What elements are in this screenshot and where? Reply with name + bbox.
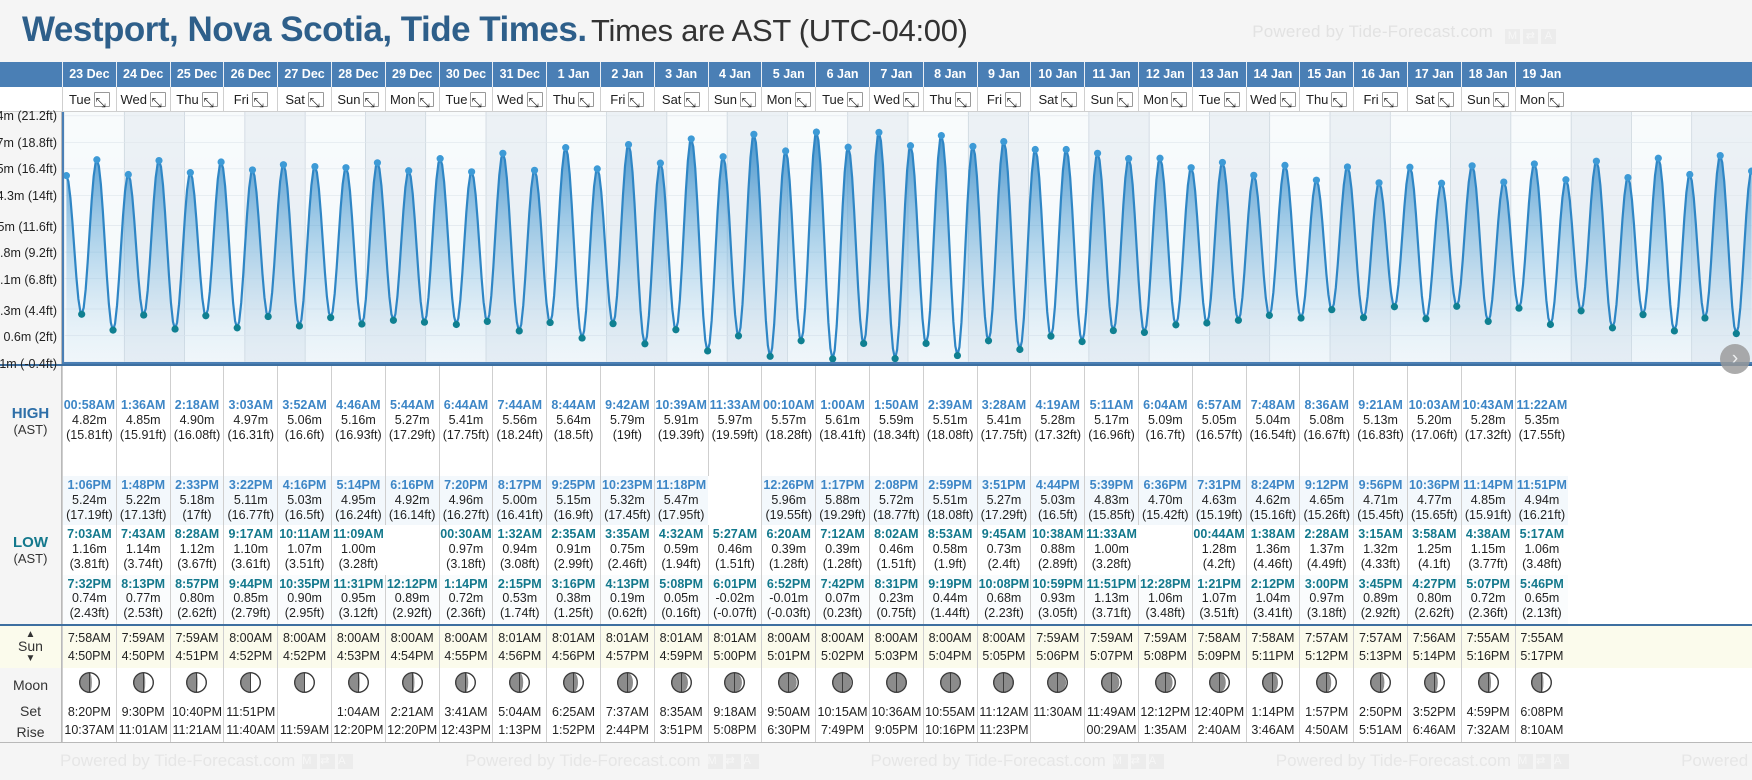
moon-phase-cell (869, 668, 923, 701)
expand-icon[interactable] (1331, 92, 1347, 107)
sunrise-time: 7:58AM (1247, 629, 1300, 647)
moon-phase-cell (708, 668, 762, 701)
weekday-header-cell[interactable]: Sun (1084, 87, 1138, 111)
low-tide-time: 6:01PM (709, 577, 762, 592)
high-tide-feet: (17.95ft) (655, 508, 708, 523)
weekday-header-cell[interactable]: Fri (223, 87, 277, 111)
high-tide-feet: (19ft) (601, 428, 654, 443)
date-header-cell[interactable]: 27 Dec (277, 62, 331, 87)
expand-icon[interactable] (684, 92, 700, 107)
sun-cell: 7:59AM5:08PM (1138, 626, 1192, 668)
low-tide-cell: 3:00PM0.97m(3.18ft) (1299, 575, 1353, 624)
sun-cell: 8:00AM5:05PM (977, 626, 1031, 668)
weekday-header-cell[interactable]: Sun (331, 87, 385, 111)
weekday-header-cell[interactable]: Mon (1138, 87, 1192, 111)
moonset-time: 2:50PM (1354, 703, 1407, 721)
high-tide-point (155, 157, 162, 164)
moonrise-time: 2:44PM (601, 721, 654, 739)
weekday-header-cell[interactable]: Tue (62, 87, 116, 111)
low-tide-cell: 11:51PM1.13m(3.71ft) (1084, 575, 1138, 624)
low-tide-meters: 0.88m (1031, 542, 1084, 557)
high-tide-cell: 2:18AM4.90m(16.08ft) (170, 366, 224, 476)
high-tide-time: 1:17PM (816, 478, 869, 493)
high-tide-feet: (16.41ft) (493, 508, 546, 523)
expand-icon[interactable] (955, 92, 971, 107)
low-tide-point (390, 317, 397, 324)
high-tide-feet: (17.19ft) (63, 508, 116, 523)
date-header-cell[interactable]: 28 Dec (331, 62, 385, 87)
high-tide-meters: 4.97m (224, 413, 277, 428)
expand-icon[interactable] (1117, 92, 1133, 107)
low-tide-meters: 0.77m (117, 591, 170, 606)
moon-phase-icon (992, 671, 1015, 694)
high-tide-feet: (17.06ft) (1408, 428, 1461, 443)
low-tide-meters: 1.36m (1247, 542, 1300, 557)
low-tide-meters: 0.65m (1516, 591, 1569, 606)
low-tide-meters: 1.25m (1408, 542, 1461, 557)
high-tide-meters: 5.57m (762, 413, 815, 428)
sunrise-time: 7:59AM (171, 629, 224, 647)
low-tide-time: 4:38AM (1462, 527, 1515, 542)
weekday-text: Fri (1363, 87, 1378, 112)
low-tide-point (578, 335, 585, 342)
high-tide-time: 9:12PM (1300, 478, 1353, 493)
moonset-time: 3:52PM (1408, 703, 1461, 721)
low-tide-cell: 9:44PM0.85m(2.79ft) (223, 575, 277, 624)
high-tide-cell: 6:57AM5.05m(16.57ft) (1192, 366, 1246, 476)
low-tide-feet: (1.51ft) (709, 557, 762, 572)
footer-watermark-icon-0: M (1113, 754, 1128, 769)
date-header-cell[interactable]: 12 Jan (1138, 62, 1192, 87)
high-tide-time: 2:39AM (924, 398, 977, 413)
high-tide-meters: 5.59m (870, 413, 923, 428)
weekday-header-cell[interactable]: Thu (1299, 87, 1353, 111)
date-header-cell[interactable]: 25 Dec (170, 62, 224, 87)
low-tide-feet: (4.46ft) (1247, 557, 1300, 572)
low-tide-feet: (0.62ft) (601, 606, 654, 621)
moonrise-time: 11:40AM (224, 721, 277, 739)
expand-icon[interactable] (628, 92, 644, 107)
high-tide-time: 4:46AM (332, 398, 385, 413)
low-tide-cell: 3:16PM0.38m(1.25ft) (546, 575, 600, 624)
high-tide-cell: 6:36PM4.70m(15.42ft) (1138, 476, 1192, 525)
sunrise-time: 8:00AM (440, 629, 493, 647)
low-tide-time: 10:08PM (978, 577, 1031, 592)
low-tide-time: 11:31PM (332, 577, 385, 592)
date-header-cell[interactable]: 6 Jan (815, 62, 869, 87)
expand-icon[interactable] (1005, 92, 1021, 107)
footer-watermark-icon-1: ⇄ (1131, 754, 1146, 769)
expand-icon[interactable] (418, 92, 434, 107)
low-tide-cell: 10:11AM1.07m(3.51ft) (277, 525, 331, 574)
expand-icon[interactable] (1438, 92, 1454, 107)
weekday-header-cell[interactable]: Mon (761, 87, 815, 111)
moonset-time: 1:57PM (1300, 703, 1353, 721)
date-header-cell[interactable]: 30 Dec (439, 62, 493, 87)
moonset-time: 12:40PM (1193, 703, 1246, 721)
low-tide-cell: 00:30AM0.97m(3.18ft) (439, 525, 493, 574)
high-tide-feet: (18.34ft) (870, 428, 923, 443)
date-header-cell[interactable]: 4 Jan (708, 62, 762, 87)
high-tide-meters: 5.08m (1300, 413, 1353, 428)
high-tide-cell: 11:22AM5.35m(17.55ft) (1515, 366, 1569, 476)
low-tide-time: 9:44PM (224, 577, 277, 592)
high-tide-feet: (16.93ft) (332, 428, 385, 443)
page-header: Westport, Nova Scotia, Tide Times. Times… (0, 0, 1752, 62)
low-tide-meters: 1.06m (1516, 542, 1569, 557)
low-tide-meters: -0.01m (762, 591, 815, 606)
high-tide-cell: 7:20PM4.96m(16.27ft) (439, 476, 493, 525)
chart-plot-area (62, 112, 1752, 364)
moonrise-label-text: Rise (16, 722, 44, 742)
high-tide-point (938, 132, 945, 139)
weekday-header-cell[interactable]: Thu (170, 87, 224, 111)
high-tide-cell: 00:58AM4.82m(15.81ft) (62, 366, 116, 476)
y-axis-tick-label: 1.3m (4.4ft) (0, 304, 57, 318)
sun-cell: 8:01AM4:57PM (600, 626, 654, 668)
low-tide-feet: (2.36ft) (1462, 606, 1515, 621)
date-header-cell[interactable]: 9 Jan (977, 62, 1031, 87)
moon-setrise-cell: 4:59PM7:32AM (1461, 701, 1515, 742)
weekday-header-cell[interactable]: Fri (1353, 87, 1407, 111)
weekday-text: Sun (1467, 87, 1490, 112)
low-tide-meters: 1.16m (63, 542, 116, 557)
high-tide-time: 1:00AM (816, 398, 869, 413)
weekday-header-cell[interactable]: Wed (492, 87, 546, 111)
low-tide-cell: 3:15AM1.32m(4.33ft) (1353, 525, 1407, 574)
low-tide-feet: (3.67ft) (171, 557, 224, 572)
weekday-header-cell[interactable]: Wed (1246, 87, 1300, 111)
high-tide-cell: 8:44AM5.64m(18.5ft) (546, 366, 600, 476)
moon-setrise-cell: 9:50AM6:30PM (761, 701, 815, 742)
footer-watermark-icon-2: A (744, 754, 759, 769)
high-tide-time: 6:04AM (1139, 398, 1192, 413)
high-tide-meters: 4.92m (386, 493, 439, 508)
moon-phase-cell (1084, 668, 1138, 701)
low-tide-time: 10:11AM (278, 527, 331, 542)
moonrise-time: 3:46AM (1247, 721, 1300, 739)
high-tide-point (1125, 155, 1132, 162)
moonset-time: 10:15AM (816, 703, 869, 721)
watermark-top: Powered by Tide-Forecast.com M ⇄ A (1252, 22, 1556, 44)
footer-watermark-icon-1: ⇄ (320, 754, 335, 769)
moonrise-time: 11:59AM (278, 721, 331, 739)
y-axis-tick-label: -0.1m (-0.4ft) (0, 357, 57, 371)
weekday-header-cell[interactable]: Sun (1461, 87, 1515, 111)
expand-icon[interactable] (252, 92, 268, 107)
moon-setrise-cell: 10:15AM7:49PM (815, 701, 869, 742)
weekday-header-cell[interactable]: Tue (815, 87, 869, 111)
high-tide-meters: 5.32m (601, 493, 654, 508)
sunrise-time: 7:59AM (1085, 629, 1138, 647)
moon-phase-cell (1299, 668, 1353, 701)
y-axis-tick-label: 3.5m (11.6ft) (0, 220, 57, 234)
expand-icon[interactable] (795, 92, 811, 107)
low-tide-time: 9:19PM (924, 577, 977, 592)
footer-watermark-icon-2: A (1554, 754, 1569, 769)
weekday-header-cell[interactable]: Sat (1030, 87, 1084, 111)
date-header-cell[interactable]: 13 Jan (1192, 62, 1246, 87)
sun-cell: 8:00AM4:52PM (277, 626, 331, 668)
low-tide-point (265, 313, 272, 320)
expand-icon[interactable] (578, 92, 594, 107)
low-tide-time: 8:53AM (924, 527, 977, 542)
sunset-time: 5:06PM (1031, 647, 1084, 665)
low-tide-time: 12:12PM (386, 577, 439, 592)
sun-cell: 7:59AM4:50PM (116, 626, 170, 668)
date-header-cell[interactable]: 18 Jan (1461, 62, 1515, 87)
weekday-header-cell[interactable]: Fri (977, 87, 1031, 111)
high-tide-cell: 1:00AM5.61m(18.41ft) (815, 366, 869, 476)
date-header-cell[interactable]: 3 Jan (654, 62, 708, 87)
low-tide-point (78, 311, 85, 318)
low-tide-point (1701, 314, 1708, 321)
high-tide-point (1094, 150, 1101, 157)
high-tide-time: 10:36PM (1408, 478, 1461, 493)
expand-icon[interactable] (1280, 92, 1296, 107)
high-tide-point (1562, 176, 1569, 183)
weekday-header-cell[interactable]: Wed (869, 87, 923, 111)
expand-icon[interactable] (1382, 92, 1398, 107)
high-tide-meters: 5.03m (1031, 493, 1084, 508)
moonrise-time: 11:21AM (171, 721, 224, 739)
expand-icon[interactable] (308, 92, 324, 107)
date-header-cell[interactable]: 10 Jan (1030, 62, 1084, 87)
moon-phase-cell (331, 668, 385, 701)
expand-icon[interactable] (150, 92, 166, 107)
high-tide-time: 11:33AM (709, 398, 762, 413)
expand-icon[interactable] (1493, 92, 1509, 107)
date-header-cell[interactable]: 11 Jan (1084, 62, 1138, 87)
low-tide-cell: 7:43AM1.14m(3.74ft) (116, 525, 170, 574)
expand-icon[interactable] (903, 92, 919, 107)
date-header-cell[interactable]: 23 Dec (62, 62, 116, 87)
low-tide-time: 11:51PM (1085, 577, 1138, 592)
high-tide-row-2: 1:06PM5.24m(17.19ft)1:48PM5.22m(17.13ft)… (0, 476, 1752, 525)
high-tide-meters: 5.20m (1408, 413, 1461, 428)
low-tide-point (1235, 317, 1242, 324)
high-tide-point (782, 147, 789, 154)
sunset-time: 4:57PM (601, 647, 654, 665)
date-header-cell[interactable]: 8 Jan (923, 62, 977, 87)
expand-icon[interactable] (740, 92, 756, 107)
high-tide-meters: 5.56m (493, 413, 546, 428)
low-tide-cell: 4:13PM0.19m(0.62ft) (600, 575, 654, 624)
low-tide-point (672, 326, 679, 333)
weekday-text: Fri (987, 87, 1002, 112)
date-header-cell[interactable]: 17 Jan (1407, 62, 1461, 87)
high-tide-cell: 1:36AM4.85m(15.91ft) (116, 366, 170, 476)
weekday-text: Mon (1143, 87, 1168, 112)
weekday-header-cell[interactable]: Thu (546, 87, 600, 111)
y-axis-tick-label: 2.1m (6.8ft) (0, 273, 57, 287)
low-tide-cell: 1:14PM0.72m(2.36ft) (439, 575, 493, 624)
sunrise-time: 8:01AM (709, 629, 762, 647)
low-tide-cell: 7:32PM0.74m(2.43ft) (62, 575, 116, 624)
weekday-header-cell[interactable]: Sat (277, 87, 331, 111)
low-tide-time: 2:35AM (547, 527, 600, 542)
moon-setrise-cell: 10:55AM10:16PM (923, 701, 977, 742)
moon-setrise-cell: 11:59AM (277, 701, 331, 742)
sunset-arrow-icon: ▼ (26, 655, 36, 663)
high-tide-point (531, 167, 538, 174)
moonrise-time: 11:23PM (978, 721, 1031, 739)
footer-watermark-icons: M⇄A (302, 754, 353, 769)
date-header-cell[interactable]: 2 Jan (600, 62, 654, 87)
high-tide-feet: (15.16ft) (1247, 508, 1300, 523)
weekday-header-cell[interactable]: Sun (708, 87, 762, 111)
low-tide-cell: 9:45AM0.73m(2.4ft) (977, 525, 1031, 574)
sunrise-time: 7:55AM (1516, 629, 1569, 647)
moon-phase-icon (347, 671, 370, 694)
low-tide-point (1172, 321, 1179, 328)
high-tide-meters: 5.96m (762, 493, 815, 508)
low-tide-cell: 8:02AM0.46m(1.51ft) (869, 525, 923, 574)
weekday-text: Wed (120, 87, 147, 112)
low-tide-cell: 1:21PM1.07m(3.51ft) (1192, 575, 1246, 624)
date-header-cell[interactable]: 19 Jan (1515, 62, 1569, 87)
moon-setrise-row: Set Rise 8:20PM10:37AM9:30PM11:01AM10:40… (0, 701, 1752, 743)
moonrise-time: 7:49PM (816, 721, 869, 739)
date-header-cell[interactable]: 14 Jan (1246, 62, 1300, 87)
date-header-cell[interactable]: 5 Jan (761, 62, 815, 87)
weekday-header-cell[interactable]: Tue (1192, 87, 1246, 111)
low-tide-time: 4:32AM (655, 527, 708, 542)
high-tide-feet: (17.55ft) (1516, 428, 1569, 443)
low-tide-cell: 10:59PM0.93m(3.05ft) (1030, 575, 1084, 624)
high-tide-point (1032, 146, 1039, 153)
high-tide-feet: (16.54ft) (1247, 428, 1300, 443)
high-tide-feet: (19.39ft) (655, 428, 708, 443)
low-tide-cell: 9:19PM0.44m(1.44ft) (923, 575, 977, 624)
expand-icon[interactable] (1548, 92, 1564, 107)
date-header-cell[interactable]: 7 Jan (869, 62, 923, 87)
high-tide-feet: (17ft) (171, 508, 224, 523)
expand-icon[interactable] (202, 92, 218, 107)
low-tide-time: 1:38AM (1247, 527, 1300, 542)
low-tide-time: 8:13PM (117, 577, 170, 592)
weekday-header-cell[interactable]: Fri (600, 87, 654, 111)
low-tide-time: 1:21PM (1193, 577, 1246, 592)
weekday-header-cell[interactable]: Mon (1515, 87, 1569, 111)
high-tide-feet: (18.77ft) (870, 508, 923, 523)
expand-icon[interactable] (1224, 92, 1240, 107)
footer-watermark-icon-0: M (708, 754, 723, 769)
date-header-cell[interactable]: 26 Dec (223, 62, 277, 87)
high-tide-feet: (18.24ft) (493, 428, 546, 443)
expand-icon[interactable] (470, 92, 486, 107)
sun-label: ▲ Sun ▼ (0, 626, 62, 668)
sunset-time: 4:51PM (171, 647, 224, 665)
low-tide-time: 10:59PM (1031, 577, 1084, 592)
weekday-text: Mon (767, 87, 792, 112)
sun-cell: 7:58AM5:11PM (1246, 626, 1300, 668)
low-tide-feet: (4.33ft) (1354, 557, 1407, 572)
scroll-right-button[interactable]: › (1720, 344, 1750, 374)
moonset-time: 10:40PM (171, 703, 224, 721)
low-tide-time: 4:13PM (601, 577, 654, 592)
low-tide-cell: 5:07PM0.72m(2.36ft) (1461, 575, 1515, 624)
high-tide-feet: (16.08ft) (171, 428, 224, 443)
weekday-header-cell[interactable]: Thu (923, 87, 977, 111)
sunrise-time: 8:01AM (547, 629, 600, 647)
low-tide-cell: 1:32AM0.94m(3.08ft) (492, 525, 546, 574)
moon-setrise-cell: 10:36AM9:05PM (869, 701, 923, 742)
low-tide-point (171, 325, 178, 332)
high-tide-cell: 1:50AM5.59m(18.34ft) (869, 366, 923, 476)
high-tide-cell: 12:26PM5.96m(19.55ft) (761, 476, 815, 525)
expand-icon[interactable] (847, 92, 863, 107)
moon-setrise-cell: 8:20PM10:37AM (62, 701, 116, 742)
date-header-cell[interactable]: 15 Jan (1299, 62, 1353, 87)
weekday-header-cell[interactable]: Sat (654, 87, 708, 111)
sun-cell: 7:57AM5:12PM (1299, 626, 1353, 668)
low-tide-point (1328, 306, 1335, 313)
low-tide-time: 9:17AM (224, 527, 277, 542)
weekday-header-cell[interactable]: Mon (385, 87, 439, 111)
moon-setrise-cell: 1:04AM12:20PM (331, 701, 385, 742)
high-tide-meters: 5.47m (655, 493, 708, 508)
date-header-cell[interactable]: 16 Jan (1353, 62, 1407, 87)
y-axis-tick-label: 0.6m (2ft) (4, 330, 58, 344)
high-tide-time: 1:36AM (117, 398, 170, 413)
expand-icon[interactable] (527, 92, 543, 107)
sun-cell: 8:00AM4:55PM (439, 626, 493, 668)
date-header-cell[interactable]: 29 Dec (385, 62, 439, 87)
sunset-time: 5:11PM (1247, 647, 1300, 665)
high-tide-point (280, 161, 287, 168)
low-tide-point (484, 318, 491, 325)
weekday-header-cell[interactable]: Wed (116, 87, 170, 111)
weekday-header-cell[interactable]: Tue (439, 87, 493, 111)
low-tide-feet: (2.99ft) (547, 557, 600, 572)
sunrise-time: 8:01AM (493, 629, 546, 647)
date-header-cell[interactable]: 24 Dec (116, 62, 170, 87)
weekday-text: Fri (234, 87, 249, 112)
date-header-cell[interactable]: 31 Dec (492, 62, 546, 87)
low-label-text: LOW (13, 534, 48, 551)
sunset-time: 5:03PM (870, 647, 923, 665)
low-tide-feet: (2.62ft) (171, 606, 224, 621)
expand-icon[interactable] (94, 92, 110, 107)
weekday-text: Wed (497, 87, 524, 112)
high-tide-meters: 5.64m (547, 413, 600, 428)
watermark-icon-swap: ⇄ (1523, 29, 1538, 44)
low-tide-time: 2:15PM (493, 577, 546, 592)
low-tide-point (202, 312, 209, 319)
moonrise-time: 6:30PM (762, 721, 815, 739)
high-tide-time: 2:59PM (924, 478, 977, 493)
low-tide-cell: 2:12PM1.04m(3.41ft) (1246, 575, 1300, 624)
low-tide-feet: (3.74ft) (117, 557, 170, 572)
expand-icon[interactable] (1171, 92, 1187, 107)
moonrise-time: 1:35AM (1139, 721, 1192, 739)
expand-icon[interactable] (363, 92, 379, 107)
low-tide-feet: (0.75ft) (870, 606, 923, 621)
high-tide-feet: (16.5ft) (1031, 508, 1084, 523)
low-tide-cell: 4:32AM0.59m(1.94ft) (654, 525, 708, 574)
moonset-time: 11:30AM (1031, 703, 1084, 721)
weekday-header-cell[interactable]: Sat (1407, 87, 1461, 111)
low-tide-cell: 1:38AM1.36m(4.46ft) (1246, 525, 1300, 574)
high-tide-cell: 9:25PM5.15m(16.9ft) (546, 476, 600, 525)
high-tide-meters: 5.88m (816, 493, 869, 508)
low-tide-feet: (0.23ft) (816, 606, 869, 621)
low-tide-point (358, 321, 365, 328)
expand-icon[interactable] (1061, 92, 1077, 107)
date-header-cell[interactable]: 1 Jan (546, 62, 600, 87)
sun-cell: 8:00AM5:02PM (815, 626, 869, 668)
